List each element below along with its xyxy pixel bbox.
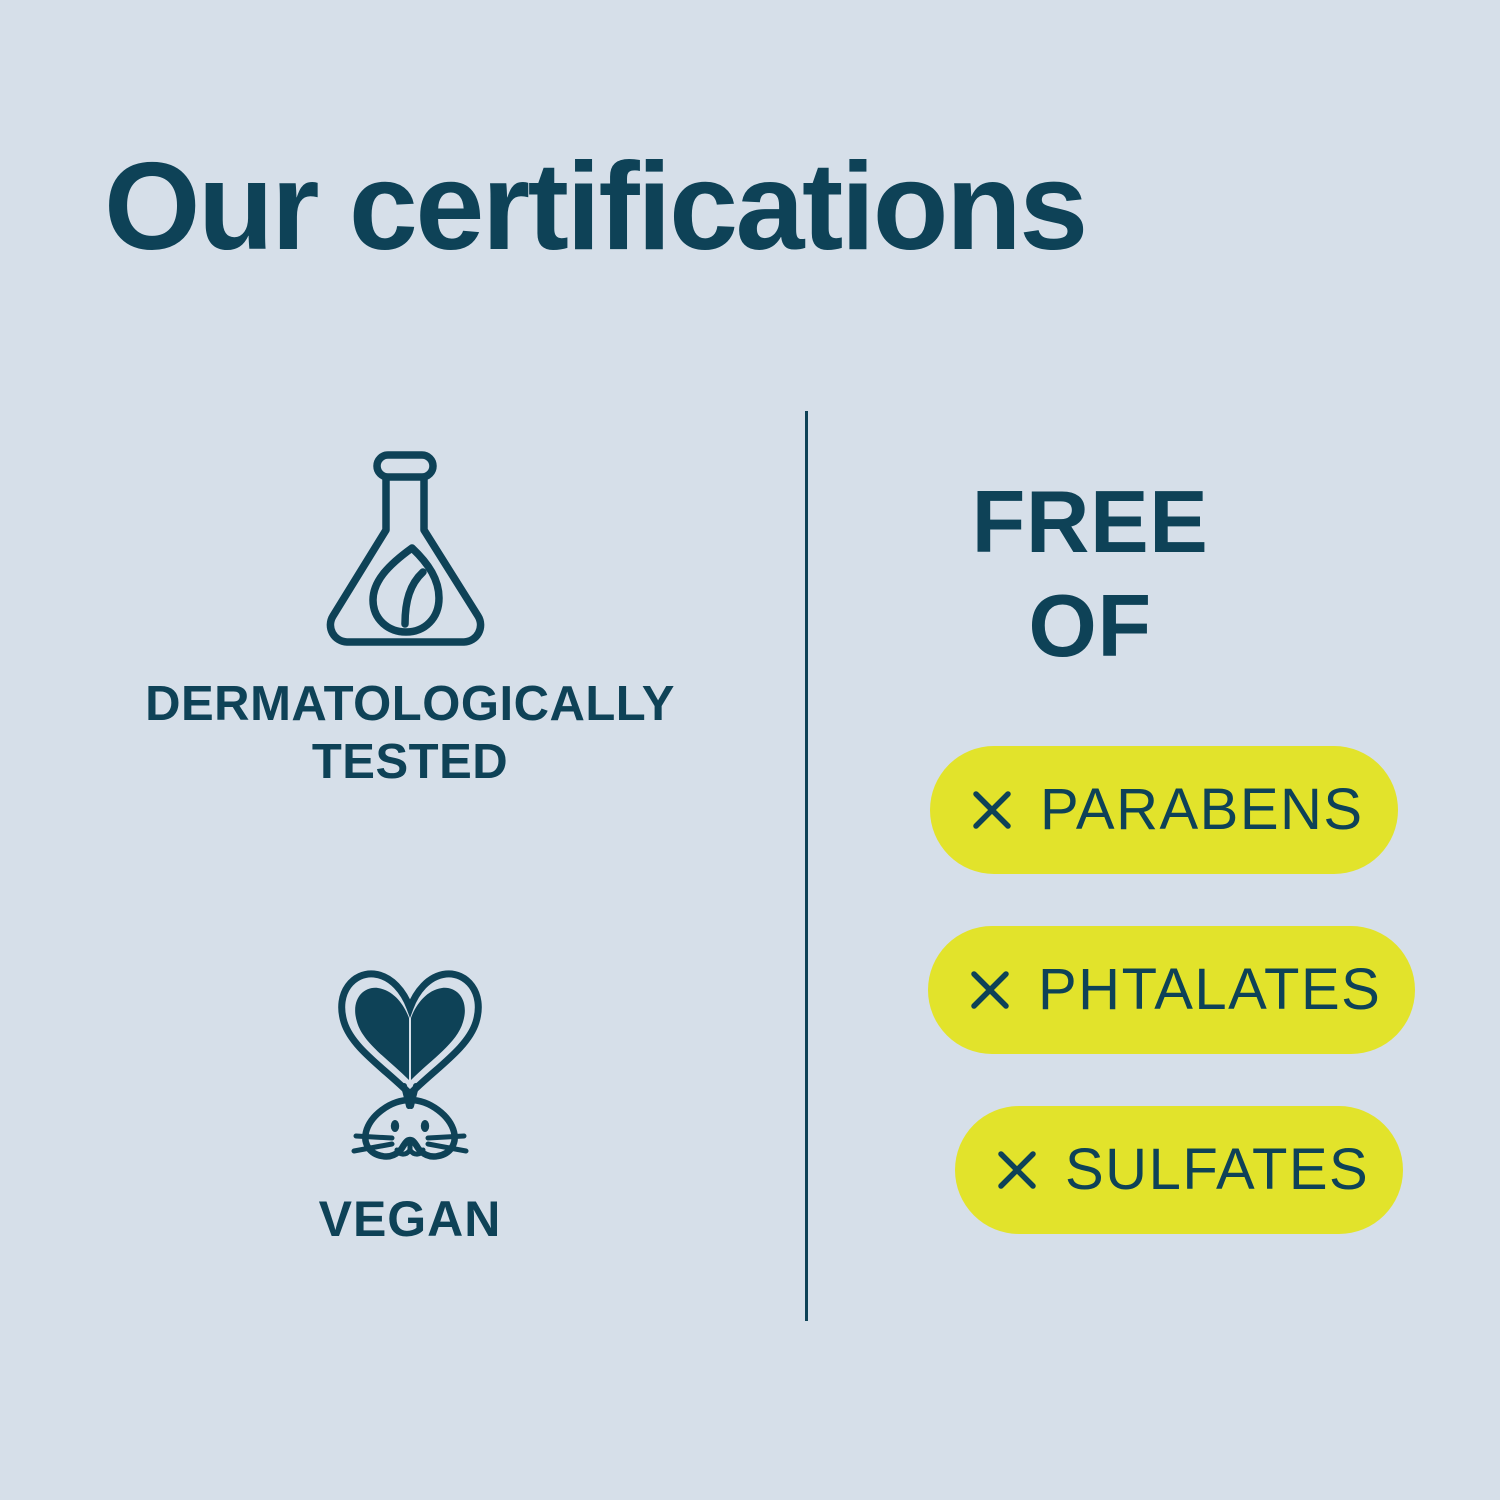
free-of-list: PARABENS PHTALATES SULFATES bbox=[880, 746, 1440, 1286]
x-icon bbox=[995, 1148, 1039, 1192]
certification-label: DERMATOLOGICALLY TESTED bbox=[60, 676, 760, 792]
flask-leaf-icon bbox=[317, 448, 503, 650]
certification-vegan: VEGAN bbox=[60, 960, 760, 1249]
free-of-heading-line2: OF bbox=[880, 574, 1300, 678]
rabbit-heart-ears-icon bbox=[312, 960, 508, 1168]
free-of-item-label: SULFATES bbox=[1065, 1141, 1369, 1199]
vertical-divider bbox=[805, 411, 808, 1321]
page-title: Our certifications bbox=[104, 145, 1086, 269]
free-of-heading-line1: FREE bbox=[972, 472, 1209, 571]
free-of-item-sulfates[interactable]: SULFATES bbox=[955, 1106, 1403, 1234]
free-of-heading: FREE OF bbox=[880, 470, 1300, 678]
free-of-item-parabens[interactable]: PARABENS bbox=[930, 746, 1398, 874]
free-of-item-phtalates[interactable]: PHTALATES bbox=[928, 926, 1415, 1054]
free-of-column: FREE OF PARABENS PHTALATES SULFATE bbox=[880, 470, 1440, 678]
certification-label: VEGAN bbox=[60, 1190, 760, 1249]
x-icon bbox=[970, 788, 1014, 832]
free-of-item-label: PARABENS bbox=[1040, 781, 1364, 839]
free-of-item-label: PHTALATES bbox=[1038, 961, 1381, 1019]
certifications-panel: Our certifications DERMATOLOGICALLY TEST… bbox=[0, 0, 1500, 1500]
x-icon bbox=[968, 968, 1012, 1012]
certifications-column: DERMATOLOGICALLY TESTED bbox=[60, 430, 760, 1330]
certification-dermatologically-tested: DERMATOLOGICALLY TESTED bbox=[60, 448, 760, 792]
